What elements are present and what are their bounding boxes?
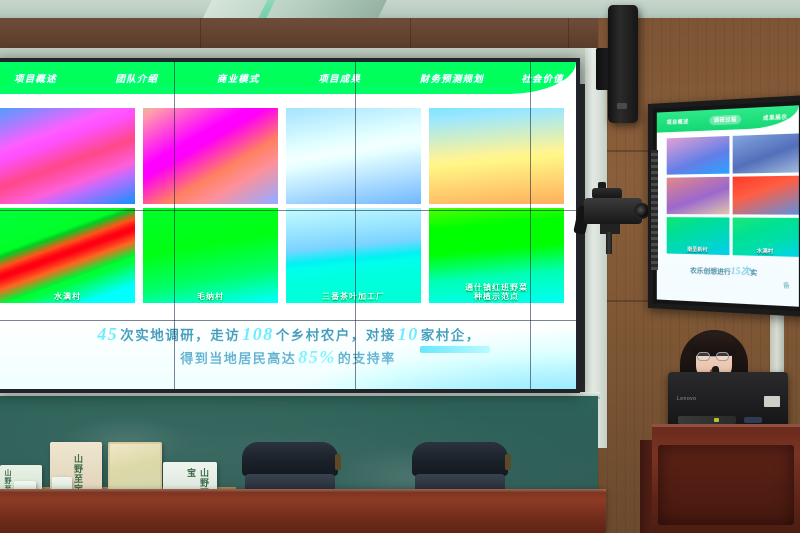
podium: [652, 424, 800, 533]
wall-seam: [200, 18, 201, 50]
side-stat-number: 15次: [731, 266, 750, 277]
side-photo-tile: 水满村: [732, 218, 799, 257]
camera-tripod-leg: [606, 232, 612, 254]
nav-item-team[interactable]: 团队介绍: [115, 71, 216, 85]
laptop-sticker: [764, 396, 780, 407]
glasses-bridge: [710, 356, 716, 357]
nav-item-results[interactable]: 项目成果: [318, 71, 419, 85]
glasses-icon: [716, 352, 729, 361]
side-nav-item-1[interactable]: 调研过程: [709, 114, 741, 125]
side-photo-tile: 南圣新村: [667, 217, 729, 255]
secondary-stat-line: 农乐创想进行15次实: [657, 261, 795, 279]
secondary-navbar: 项目概述 调研过程 成果展示: [657, 105, 799, 132]
photo-tile: 三番茶叶加工厂: [286, 208, 421, 304]
slide-content: 项目概述 团队介绍 商业模式 项目成果 财务预测规划 社会价值 水满村: [0, 62, 576, 389]
side-photo-caption: 水满村: [732, 247, 799, 256]
side-nav-item-2[interactable]: 成果展示: [763, 113, 788, 122]
photo-tile: [0, 108, 135, 204]
secondary-stat-line-2: 备: [783, 280, 790, 290]
side-photo-tile: [732, 176, 799, 215]
wall-speaker: [608, 5, 638, 123]
nav-item-social[interactable]: 社会价值: [521, 71, 564, 85]
laptop-port-strip: [678, 416, 736, 424]
secondary-display-screen: 项目概述 调研过程 成果展示 南圣新村 水满村 农乐创想进行15次实 备: [657, 105, 799, 306]
photo-tile: [286, 108, 421, 204]
front-conference-table: [0, 492, 606, 533]
side-nav-item-0[interactable]: 项目概述: [667, 118, 689, 126]
photo-tile: 水满村: [0, 208, 135, 304]
glasses-icon: [697, 352, 710, 361]
center-pillar: [585, 48, 607, 448]
photo-tile: [429, 108, 564, 204]
side-photo-tile: [667, 177, 729, 215]
side-photo-caption: 南圣新村: [667, 245, 729, 254]
side-photo-tile: [667, 136, 729, 175]
slide-swoosh-decoration: [0, 297, 576, 389]
laptop-led-icon: [714, 418, 719, 422]
side-stat-text: 农乐创想进行: [690, 267, 731, 276]
side-photo-tile: [732, 133, 799, 173]
secondary-display-side-buttons[interactable]: [651, 150, 658, 270]
nav-item-overview[interactable]: 项目概述: [14, 71, 115, 85]
laptop[interactable]: Lenovo: [668, 372, 788, 430]
secondary-photo-grid: 南圣新村 水满村: [667, 133, 799, 256]
main-video-wall[interactable]: 项目概述 团队介绍 商业模式 项目成果 财务预测规划 社会价值 水满村: [0, 62, 576, 389]
laptop-brand-label: Lenovo: [677, 396, 696, 402]
slide-photo-grid: 水满村 毛纳村 三番茶叶加工厂 通什镇红班野菜 种植示范点: [0, 108, 576, 303]
photo-tile: 通什镇红班野菜 种植示范点: [429, 208, 564, 304]
slide-navbar: 项目概述 团队介绍 商业模式 项目成果 财务预测规划 社会价值: [0, 62, 576, 94]
speaker-logo-icon: [617, 103, 627, 109]
secondary-display[interactable]: 项目概述 调研过程 成果展示 南圣新村 水满村 农乐创想进行15次实 备: [648, 95, 800, 317]
nav-item-business[interactable]: 商业模式: [217, 71, 318, 85]
wall-seam: [568, 18, 569, 50]
photo-tile: [143, 108, 278, 204]
slide-accent-bar: [420, 346, 490, 353]
wall-seam: [410, 18, 411, 50]
nav-item-financial[interactable]: 财务预测规划: [420, 71, 521, 85]
podium-front-panel: [658, 445, 794, 525]
presentation-room-scene: 项目概述 团队介绍 商业模式 项目成果 财务预测规划 社会价值 水满村: [0, 0, 800, 533]
laptop-port: [744, 417, 762, 423]
photo-tile: 毛纳村: [143, 208, 278, 304]
product-label: 山野至宝: [72, 454, 85, 494]
side-stat-tail: 实: [750, 269, 757, 277]
